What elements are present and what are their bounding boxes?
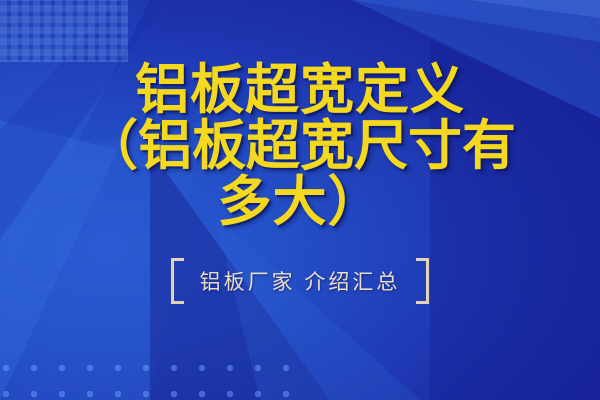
- subtitle-row: 铝板厂家 介绍汇总: [171, 258, 430, 304]
- page-title: 铝板超宽定义 （铝板超宽尺寸有 多大）: [84, 62, 516, 230]
- title-line-1: 铝板超宽定义: [84, 62, 516, 118]
- title-line-3: 多大）: [84, 174, 516, 230]
- bracket-right-icon: [416, 258, 429, 304]
- title-line-2: （铝板超宽尺寸有: [84, 118, 516, 174]
- bracket-left-icon: [171, 258, 184, 304]
- content-stack: 铝板超宽定义 （铝板超宽尺寸有 多大） 铝板厂家 介绍汇总: [0, 0, 600, 400]
- poster-canvas: 铝板超宽定义 （铝板超宽尺寸有 多大） 铝板厂家 介绍汇总: [0, 0, 600, 400]
- subtitle-text: 铝板厂家 介绍汇总: [200, 266, 401, 296]
